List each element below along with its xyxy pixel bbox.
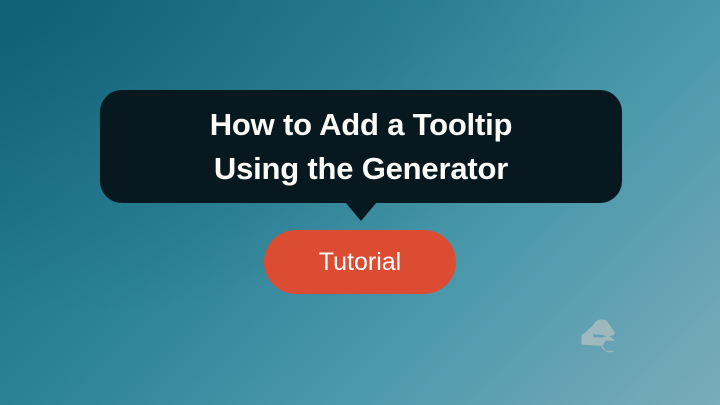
tooltip-bubble: How to Add a Tooltip Using the Generator: [100, 90, 622, 203]
title-line-1: How to Add a Tooltip: [210, 104, 513, 146]
slide-canvas: How to Add a Tooltip Using the Generator…: [0, 0, 720, 405]
page-title: How to Add a Tooltip Using the Generator: [100, 90, 622, 203]
title-line-2: Using the Generator: [214, 148, 508, 190]
wrench-icon: [572, 314, 620, 362]
tooltip-tail-icon: [345, 202, 377, 221]
tutorial-button[interactable]: Tutorial: [264, 230, 456, 294]
